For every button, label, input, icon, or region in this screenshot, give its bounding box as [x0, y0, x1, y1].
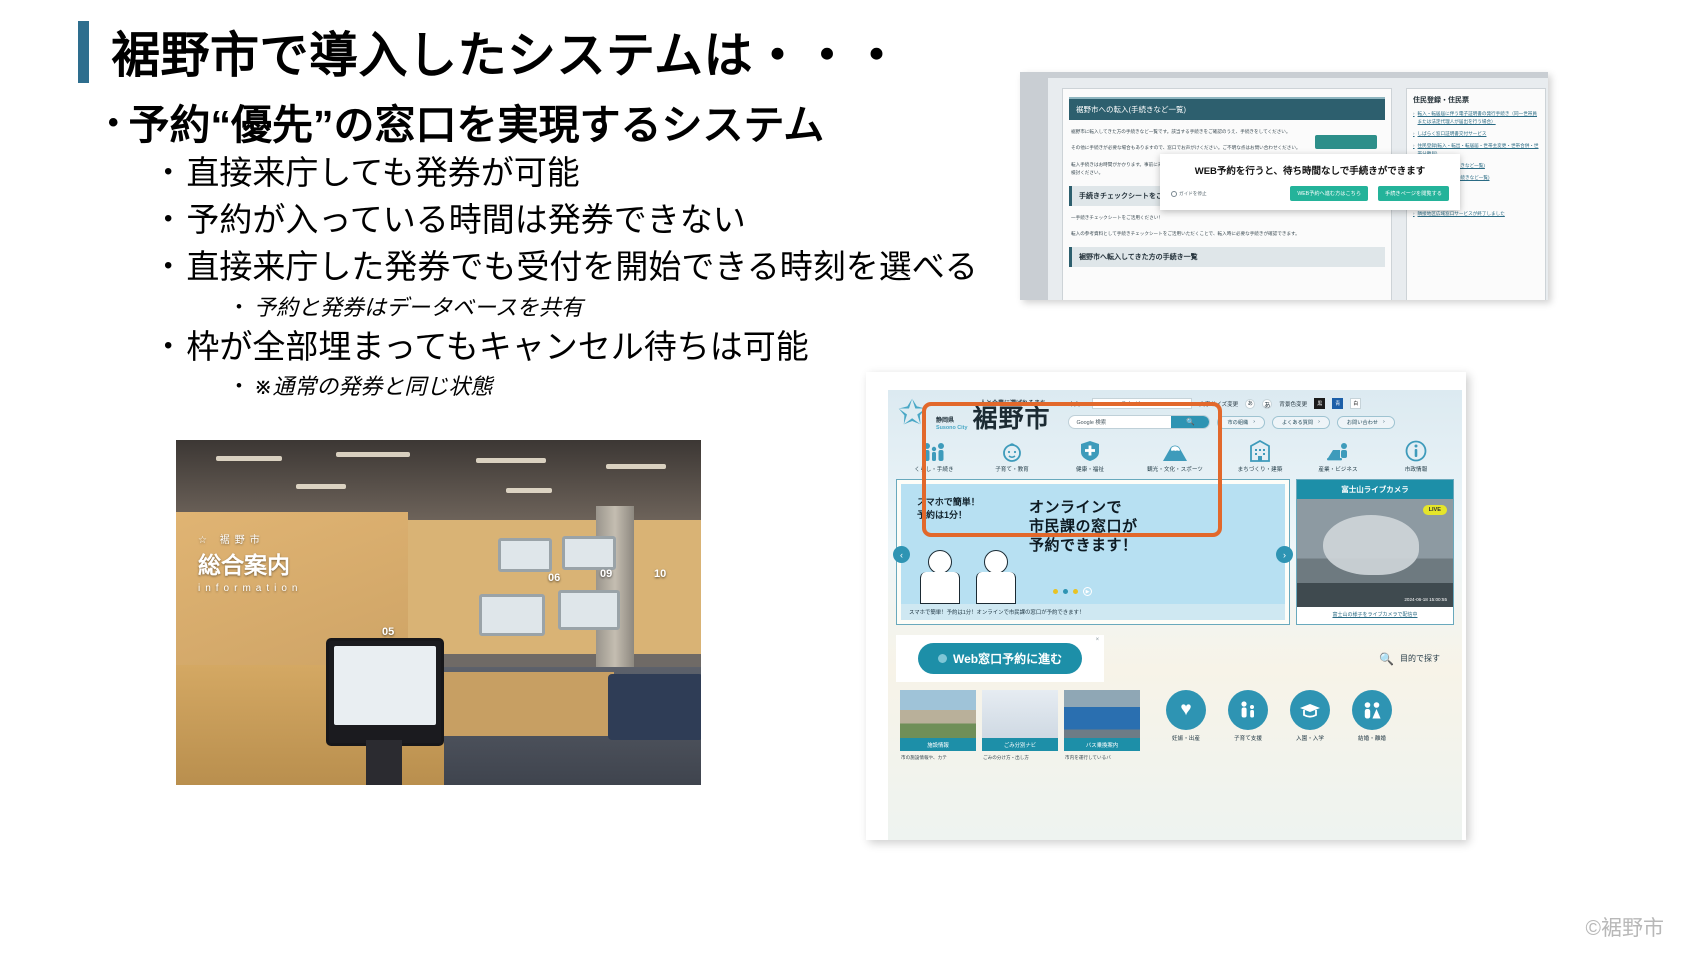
sidebar-link[interactable]: ›しばらく窓口証明書交付サービス — [1413, 130, 1539, 138]
list-item-label: 直接来庁しても発券が可能 — [186, 150, 579, 197]
counter-number: 05 — [382, 626, 394, 638]
live-camera-image: LIVE 2024-06-18 15:00:55 — [1297, 499, 1453, 607]
reception-sign: ☆ 裾野市 総合案内 information — [198, 534, 302, 596]
circle-link-marriage[interactable]: 結婚・離婚 — [1346, 690, 1398, 742]
nav-item-kurashi[interactable]: くらし・手続き — [902, 440, 966, 473]
modal-actions: ガイドを停止 WEB予約へ進む方はこちら 手続きページを閲覧する — [1171, 186, 1449, 201]
circle-link-label: 結婚・離婚 — [1358, 734, 1386, 742]
counter-number: 10 — [654, 568, 666, 580]
caret-icon: › — [1413, 210, 1415, 218]
nav-item-label: 産業・ビジネス — [1318, 465, 1357, 473]
bullet-marker-icon: • — [164, 244, 172, 291]
person-figure — [975, 550, 1017, 604]
guide-stop-control[interactable]: ガイドを停止 — [1171, 191, 1207, 197]
ceiling-light — [216, 456, 282, 461]
counter-monitor — [558, 590, 620, 630]
nav-item-label: 市政情報 — [1405, 465, 1427, 473]
chevron-right-icon: › — [1253, 419, 1255, 425]
pill-faq[interactable]: よくある質問› — [1272, 416, 1330, 429]
pill-label: 市の組織 — [1227, 419, 1248, 426]
reception-sign-main: 総合案内 — [198, 549, 302, 582]
kiosk-stand — [366, 740, 402, 785]
caret-icon: › — [1413, 130, 1415, 138]
bullet-marker-icon: • — [236, 370, 242, 403]
portal-circle-links: ♥ 妊娠・出産 子育て支援 入園・入学 — [1160, 690, 1398, 742]
copyright-watermark: ©裾野市 — [1586, 912, 1664, 942]
prefecture-en-label: Susono City — [936, 425, 967, 432]
kiosk-screen — [334, 646, 436, 725]
contrast-label: 背景色変更 — [1279, 400, 1307, 408]
nav-item-shisei[interactable]: 市政情報 — [1384, 440, 1448, 473]
utility-row-top: 本文へ Select Language 文字サイズ変更 あ あ 背景色変更 黒 … — [1068, 398, 1452, 409]
language-select[interactable]: Select Language — [1092, 398, 1192, 409]
nav-item-sangyo[interactable]: 産業・ビジネス — [1306, 440, 1370, 473]
city-logo: ✩ — [898, 398, 932, 432]
building-icon — [1250, 440, 1270, 462]
guide-stop-label: ガイドを停止 — [1179, 191, 1207, 197]
prefecture-label: 静岡県 — [936, 418, 967, 426]
sidebar-link-label: 転入・転居届に伴う電子証明書の発行手続き（同一世帯員または法定代理人が届出を行う… — [1418, 110, 1539, 126]
counter-number: 06 — [548, 572, 560, 584]
search-icon[interactable]: 🔍 — [1171, 416, 1209, 428]
pill-label: お問い合わせ — [1347, 419, 1378, 426]
bullet-marker-icon: • — [164, 324, 172, 371]
list-item-sub: • 予約と発券はデータベースを共有 — [236, 291, 1038, 324]
circle-link-label: 妊娠・出産 — [1172, 734, 1200, 742]
pill-city-organization[interactable]: 市の組織› — [1217, 416, 1265, 429]
carousel-bubble-text: スマホで簡単！ 予約は1分！ — [917, 496, 1015, 522]
person-head — [984, 550, 1008, 574]
brand-row: 静岡県 Susono City 裾野市 — [936, 407, 1050, 432]
utility-row-bottom: Google 検索 🔍 市の組織› よくある質問› お問い合わせ› — [1068, 415, 1452, 429]
graduation-cap-icon — [1290, 690, 1330, 730]
carousel-illustration — [919, 548, 1029, 604]
carousel-dot[interactable] — [1053, 589, 1058, 594]
tile-text: ごみの分け方・出し方 — [982, 751, 1058, 764]
tile-caption: ごみ分別ナビ — [982, 738, 1058, 751]
section-body: 転入の参考資料として手続きチェックシートをご活用いただくことで、転入時に必要な手… — [1071, 230, 1383, 238]
ceiling-light — [336, 452, 410, 457]
reception-sign-top: ☆ 裾野市 — [198, 534, 302, 549]
tile-facility-info[interactable]: 施設情報 市の施設情報や、カテ — [900, 690, 976, 764]
search-placeholder: Google 検索 — [1069, 418, 1171, 426]
brand-block: 人と企業に選ばれるまち 静岡県 Susono City 裾野市 — [936, 398, 1050, 432]
wall-monitor — [562, 536, 616, 570]
caret-icon: › — [1413, 110, 1415, 126]
wall-monitor — [498, 538, 552, 572]
tile-garbage-navi[interactable]: ごみ分別ナビ ごみの分け方・出し方 — [982, 690, 1058, 764]
hero-carousel: ‹ › スマホで簡単！ 予約は1分！ オンラインで 市民課の窓口が 予約できます… — [896, 479, 1290, 625]
section-heading: 裾野市へ転入してきた方の手続き一覧 — [1069, 247, 1385, 267]
font-size-large-button[interactable]: あ — [1262, 399, 1272, 409]
web-reservation-button-label: Web窓口予約に進む — [953, 650, 1062, 667]
city-name: 裾野市 — [972, 407, 1050, 432]
portal-tiles-row: 施設情報 市の施設情報や、カテ ごみ分別ナビ ごみの分け方・出し方 バス乗換案内… — [888, 682, 1462, 764]
page-heading: 裾野市への転入(手続きなど一覧) — [1069, 97, 1385, 120]
contrast-blue-button[interactable]: 青 — [1332, 398, 1343, 409]
star-icon: ✩ — [898, 398, 932, 428]
pill-contact[interactable]: お問い合わせ› — [1337, 416, 1395, 429]
carousel-headline-label: オンラインで 市民課の窓口が 予約できます！ — [1029, 499, 1138, 554]
carousel-dots: ▶ — [1053, 587, 1092, 596]
bullet-marker-icon: • — [236, 291, 242, 324]
live-badge: LIVE — [1423, 505, 1447, 515]
ceiling-light — [296, 484, 346, 489]
circle-link-childcare[interactable]: 子育て支援 — [1222, 690, 1274, 742]
bullet-marker-icon: • — [164, 150, 172, 197]
live-camera-panel: 富士山ライブカメラ LIVE 2024-06-18 15:00:55 富士山の様… — [1296, 479, 1454, 625]
list-item: • 直接来庁しても発券が可能 — [164, 150, 1038, 197]
list-item-sub-label: ※通常の発券と同じ状態 — [254, 370, 492, 403]
shield-plus-icon — [1080, 440, 1100, 462]
parent-child-icon — [1228, 690, 1268, 730]
bullet-list: • 予約“優先”の窓口を実現するシステム • 直接来庁しても発券が可能 • 予約… — [108, 100, 1038, 403]
skip-to-content-link[interactable]: 本文へ — [1068, 400, 1085, 408]
live-timestamp: 2024-06-18 15:00:55 — [1404, 597, 1447, 602]
pill-label: よくある質問 — [1282, 419, 1313, 426]
nav-item-kanko[interactable]: 観光・文化・スポーツ — [1136, 440, 1214, 473]
portal-page: ✩ 人と企業に選ばれるまち 静岡県 Susono City 裾野市 本文へ Se… — [888, 390, 1462, 840]
nav-item-label: くらし・手続き — [914, 465, 953, 473]
list-item-label: 枠が全部埋まってもキャンセル待ちは可能 — [186, 324, 808, 371]
city-portal-screenshot: ✩ 人と企業に選ばれるまち 静岡県 Susono City 裾野市 本文へ Se… — [866, 372, 1466, 840]
tile-bus-guide[interactable]: バス乗換案内 市内を運行しているバ — [1064, 690, 1140, 764]
person-head — [928, 550, 952, 574]
nav-item-machizukuri[interactable]: まちづくり・建築 — [1228, 440, 1292, 473]
sidebar-link-label: しばらく窓口証明書交付サービス — [1418, 130, 1487, 138]
baby-icon — [1001, 440, 1023, 462]
tile-image — [900, 690, 976, 738]
tile-caption: バス乗換案内 — [1064, 738, 1140, 751]
family-icon — [922, 440, 946, 462]
font-size-label: 文字サイズ変更 — [1199, 400, 1238, 408]
sidebar-link-label: 隣接地区広域窓口サービスが終了しました — [1418, 210, 1505, 218]
tile-text: 市の施設情報や、カテ — [900, 751, 976, 764]
bullet-marker-icon: • — [164, 197, 172, 244]
slide-title-row: 裾野市で導入したシステムは・・・ — [78, 16, 902, 87]
browser-viewport: 裾野市への転入(手続きなど一覧) 裾野市に転入してきた方の手続きなど一覧です。該… — [1048, 78, 1548, 300]
close-icon[interactable]: × — [1096, 637, 1100, 643]
counter-number: 09 — [600, 568, 612, 580]
modal-title: WEB予約を行うと、待ち時間なしで手続きができます — [1171, 163, 1449, 177]
nav-item-label: 子育て・教育 — [995, 465, 1029, 473]
transfer-page-screenshot: 裾野市への転入(手続きなど一覧) 裾野市に転入してきた方の手続きなど一覧です。該… — [1020, 72, 1548, 300]
lobby-photo: ☆ 裾野市 総合案内 information 05 06 09 10 — [176, 440, 701, 785]
list-item-sub-label: 予約と発券はデータベースを共有 — [254, 291, 583, 324]
sidebar-link[interactable]: ›隣接地区広域窓口サービスが終了しました — [1413, 210, 1539, 218]
counter-monitor — [479, 594, 545, 636]
nav-item-kenko[interactable]: 健康・福祉 — [1058, 440, 1122, 473]
circle-link-label: 入園・入学 — [1296, 734, 1324, 742]
cloud-shape — [1323, 515, 1419, 575]
chevron-right-icon: › — [1383, 419, 1385, 425]
carousel-bubble-label: スマホで簡単！ 予約は1分！ — [917, 497, 980, 520]
sidebar-title: 住民登録・住民票 — [1413, 95, 1539, 105]
search-icon: 🔍 — [1379, 652, 1394, 666]
nav-item-kosodate[interactable]: 子育て・教育 — [980, 440, 1044, 473]
carousel-prev-button[interactable]: ‹ — [893, 546, 910, 563]
search-input[interactable]: Google 検索 🔍 — [1068, 415, 1210, 429]
find-by-purpose[interactable]: 🔍 目的で探す — [1379, 652, 1454, 666]
person-figure — [919, 550, 961, 604]
carousel-play-button[interactable]: ▶ — [1083, 587, 1092, 596]
prefecture-block: 静岡県 Susono City — [936, 418, 967, 432]
mountain-icon — [1162, 440, 1188, 462]
view-procedure-page-button[interactable]: 手続きページを閲覧する — [1378, 186, 1449, 201]
contrast-black-button[interactable]: 黒 — [1314, 398, 1325, 409]
page-title: 裾野市で導入したシステムは・・・ — [111, 16, 902, 87]
list-item: • 直接来庁した発券でも受付を開始できる時刻を選べる — [164, 244, 1038, 291]
list-item-label: 予約が入っている時間は発券できない — [186, 197, 745, 244]
person-body — [976, 572, 1016, 604]
circle-link-pregnancy[interactable]: ♥ 妊娠・出産 — [1160, 690, 1212, 742]
carousel-slide[interactable]: スマホで簡単！ 予約は1分！ オンラインで 市民課の窓口が 予約できます！ — [901, 484, 1285, 604]
nav-item-label: 観光・文化・スポーツ — [1147, 465, 1203, 473]
pause-icon — [1171, 191, 1177, 197]
title-accent-bar — [78, 21, 89, 83]
portal-mid-row: ‹ › スマホで簡単！ 予約は1分！ オンラインで 市民課の窓口が 予約できます… — [888, 473, 1462, 625]
info-icon — [1405, 440, 1427, 462]
ceiling-light — [506, 488, 552, 493]
web-reservation-modal: WEB予約を行うと、待ち時間なしで手続きができます ガイドを停止 WEB予約へ進… — [1160, 154, 1460, 210]
clock-icon — [938, 654, 947, 663]
font-size-small-button[interactable]: あ — [1245, 399, 1255, 409]
ceiling-light — [476, 458, 546, 463]
circle-link-label: 子育て支援 — [1234, 734, 1262, 742]
bullet-level1: • 予約“優先”の窓口を実現するシステム — [108, 100, 1038, 150]
service-counter — [444, 672, 614, 736]
carousel-next-button[interactable]: › — [1276, 546, 1293, 563]
tile-image — [982, 690, 1058, 738]
list-item: • 予約が入っている時間は発券できない — [164, 197, 1038, 244]
page-action-button[interactable] — [1315, 135, 1377, 149]
go-to-web-reservation-button[interactable]: WEB予約へ進む方はこちら — [1290, 186, 1368, 201]
find-by-purpose-label: 目的で探す — [1400, 653, 1440, 664]
section-body: 一手続きチェックシートをご活用ください！ — [1071, 214, 1383, 222]
chevron-right-icon: › — [1318, 419, 1320, 425]
circle-link-school[interactable]: 入園・入学 — [1284, 690, 1336, 742]
heart-icon: ♥ — [1166, 690, 1206, 730]
web-reservation-button[interactable]: Web窓口予約に進む — [918, 643, 1082, 674]
list-item-label: 直接来庁した発券でも受付を開始できる時刻を選べる — [186, 244, 977, 291]
contrast-white-button[interactable]: 白 — [1350, 398, 1361, 409]
sidebar-link[interactable]: ›転入・転居届に伴う電子証明書の発行手続き（同一世帯員または法定代理人が届出を行… — [1413, 110, 1539, 126]
live-camera-title: 富士山ライブカメラ — [1297, 480, 1453, 499]
live-camera-link[interactable]: 富士山の様子をライブカメラで配信中 — [1297, 607, 1453, 622]
tile-text: 市内を運行しているバ — [1064, 751, 1140, 764]
nav-item-label: 健康・福祉 — [1076, 465, 1104, 473]
cta-row: × Web窓口予約に進む 🔍 目的で探す — [888, 635, 1462, 682]
bullet-level1-text: 予約“優先”の窓口を実現するシステム — [129, 100, 825, 150]
carousel-dot[interactable] — [1073, 589, 1078, 594]
carousel-headline: オンラインで 市民課の窓口が 予約できます！ — [1029, 498, 1138, 556]
reception-sign-sub: information — [198, 582, 302, 597]
carousel-caption: スマホで簡単！予約は1分！オンラインで市民課の窓口が予約できます！ — [901, 604, 1285, 620]
portal-header: ✩ 人と企業に選ばれるまち 静岡県 Susono City 裾野市 本文へ Se… — [888, 390, 1462, 432]
person-body — [920, 572, 960, 604]
utility-bar: 本文へ Select Language 文字サイズ変更 あ あ 背景色変更 黒 … — [1068, 398, 1452, 429]
carousel-dot[interactable] — [1063, 589, 1068, 594]
cta-card: × Web窓口予約に進む — [896, 635, 1104, 682]
list-item: • 枠が全部埋まってもキャンセル待ちは可能 — [164, 324, 1038, 371]
ticket-kiosk — [326, 638, 444, 746]
waiting-sofa — [608, 674, 701, 740]
ceiling-light — [606, 464, 666, 469]
nav-item-label: まちづくり・建築 — [1238, 465, 1283, 473]
tile-caption: 施設情報 — [900, 738, 976, 751]
tile-image — [1064, 690, 1140, 738]
couple-icon — [1352, 690, 1392, 730]
portal-nav: くらし・手続き 子育て・教育 健康・福祉 観光・文化・スポーツ — [888, 432, 1462, 473]
laptop-person-icon — [1326, 440, 1350, 462]
bullet-marker-icon: • — [108, 100, 119, 150]
